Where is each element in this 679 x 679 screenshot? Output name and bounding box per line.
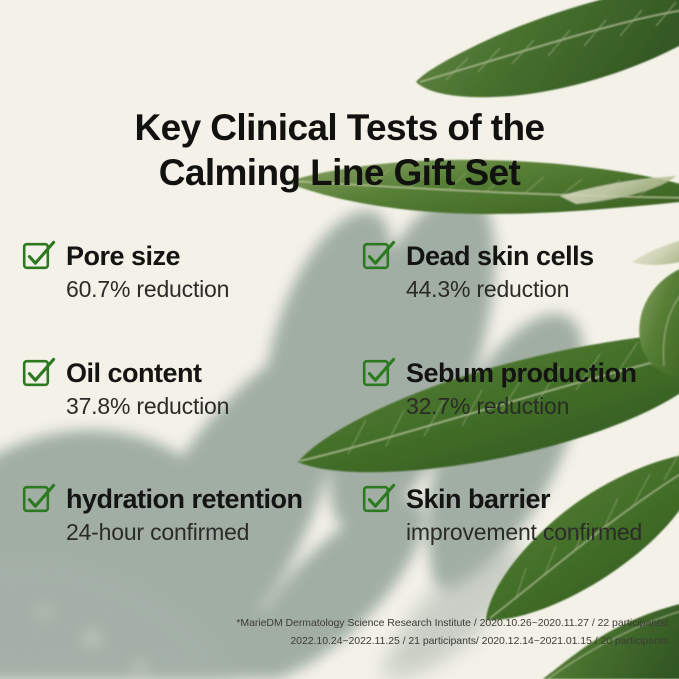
clinical-results-checklist: Pore size 60.7% reduction Dead skin cell… [0, 238, 679, 568]
checklist-item-title: hydration retention [66, 486, 303, 513]
checklist-item-heading: Skin barrier [362, 481, 679, 517]
checklist-item-title: Oil content [66, 360, 202, 387]
promotional-infographic: Key Clinical Tests of the Calming Line G… [0, 0, 679, 679]
checklist-item-subtitle: 60.7% reduction [66, 277, 352, 302]
checkbox-checked-icon [362, 483, 396, 515]
checklist-item-heading: hydration retention [22, 481, 352, 517]
checkbox-checked-icon [362, 357, 396, 389]
checklist-item-hydration-retention: hydration retention 24-hour confirmed [22, 481, 352, 545]
page-title-line-1: Key Clinical Tests of the [0, 105, 679, 151]
checklist-item-title: Pore size [66, 243, 180, 270]
checklist-item-sebum-production: Sebum production 32.7% reduction [362, 355, 679, 419]
checkbox-checked-icon [22, 483, 56, 515]
checklist-item-heading: Oil content [22, 355, 352, 391]
study-footnote: *MarieDM Dermatology Science Research In… [236, 615, 668, 650]
study-footnote-line-2: 2022.10.24~2022.11.25 / 21 participants/… [236, 633, 668, 650]
checklist-item-pore-size: Pore size 60.7% reduction [22, 238, 352, 302]
checklist-item-skin-barrier: Skin barrier improvement confirmed [362, 481, 679, 545]
checklist-item-title: Dead skin cells [406, 243, 594, 270]
checklist-item-heading: Sebum production [362, 355, 679, 391]
checkbox-checked-icon [362, 240, 396, 272]
checkbox-checked-icon [22, 357, 56, 389]
checklist-item-subtitle: 44.3% reduction [406, 277, 679, 302]
checklist-item-subtitle: improvement confirmed [406, 520, 679, 545]
checklist-item-heading: Pore size [22, 238, 352, 274]
checklist-item-heading: Dead skin cells [362, 238, 679, 274]
checklist-item-oil-content: Oil content 37.8% reduction [22, 355, 352, 419]
checklist-item-subtitle: 32.7% reduction [406, 394, 679, 419]
checkbox-checked-icon [22, 240, 56, 272]
page-title-line-2: Calming Line Gift Set [0, 150, 679, 196]
checklist-item-title: Skin barrier [406, 486, 550, 513]
checklist-item-subtitle: 37.8% reduction [66, 394, 352, 419]
checklist-item-subtitle: 24-hour confirmed [66, 520, 352, 545]
page-title: Key Clinical Tests of the Calming Line G… [0, 105, 679, 196]
checklist-item-title: Sebum production [406, 360, 637, 387]
checklist-item-dead-skin-cells: Dead skin cells 44.3% reduction [362, 238, 679, 302]
study-footnote-line-1: *MarieDM Dermatology Science Research In… [236, 615, 668, 632]
